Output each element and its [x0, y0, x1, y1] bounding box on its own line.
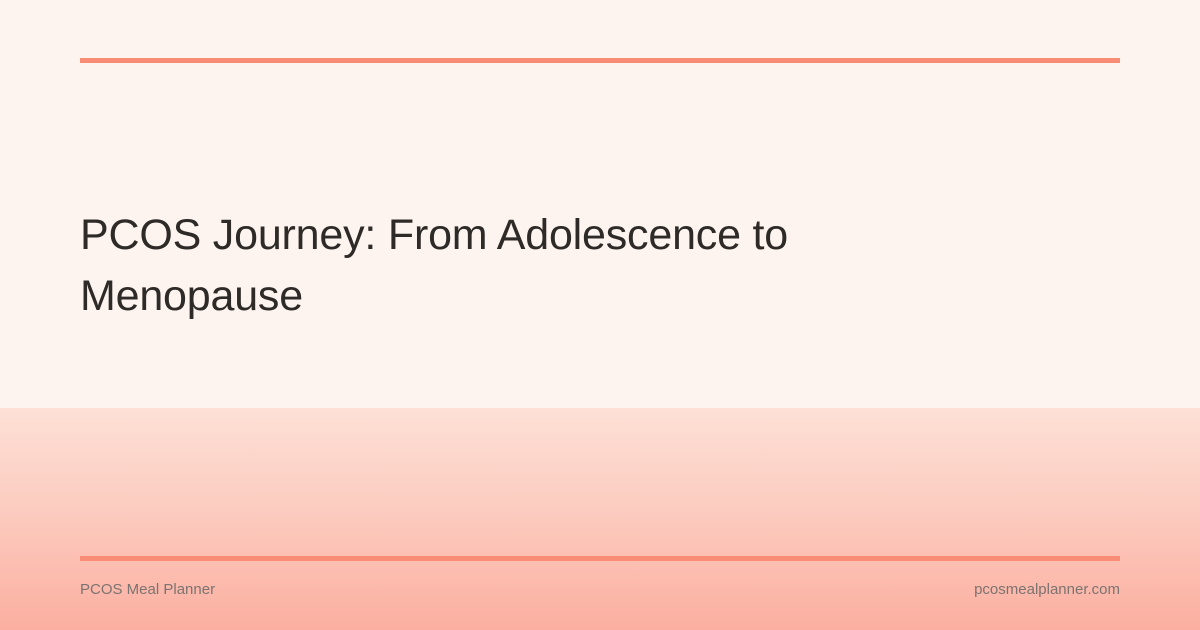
accent-rule-top [80, 58, 1120, 63]
page-title: PCOS Journey: From Adolescence to Menopa… [80, 205, 980, 327]
title-block: PCOS Journey: From Adolescence to Menopa… [80, 205, 980, 327]
accent-rule-bottom [80, 556, 1120, 561]
footer-brand-label: PCOS Meal Planner [80, 580, 215, 600]
social-share-card: PCOS Journey: From Adolescence to Menopa… [0, 0, 1200, 630]
footer-website-url: pcosmealplanner.com [974, 580, 1120, 600]
footer: PCOS Meal Planner pcosmealplanner.com [80, 580, 1120, 600]
